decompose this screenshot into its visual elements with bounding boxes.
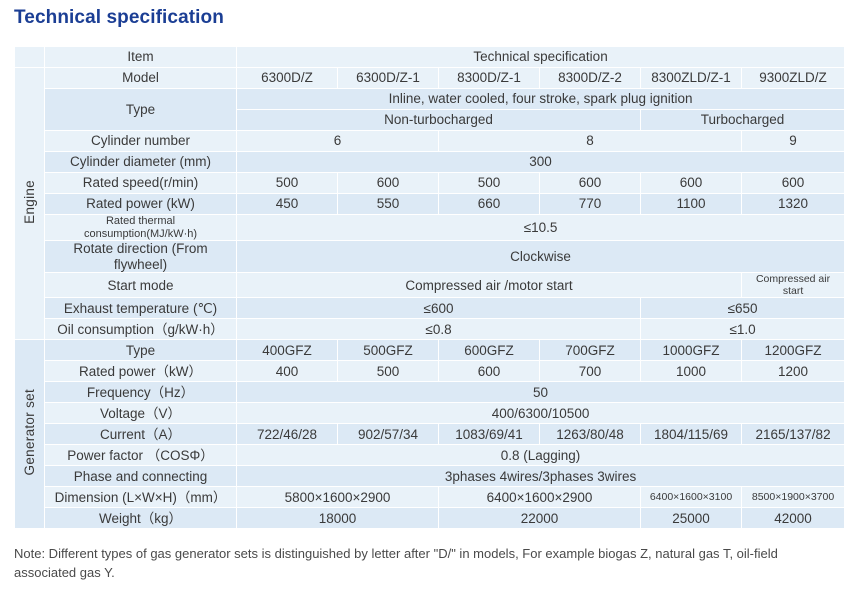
cell-gen-type-3: 600GFZ [439,340,540,361]
technical-specification-page: Technical specification Item Technical s… [0,0,858,602]
cell-start-mode-secondary: Compressed air start [742,273,845,298]
table-row-voltage: Voltage（V） 400/6300/10500 [15,403,845,424]
cell-gen-power-3: 600 [439,361,540,382]
cell-dimension-4: 8500×1900×3700 [742,487,845,508]
row-label-model: Model [45,68,237,89]
cell-dimension-1: 5800×1600×2900 [237,487,439,508]
header-corner-cell [15,47,45,68]
cell-rated-power-engine-1: 450 [237,194,338,215]
table-row-exhaust-temperature: Exhaust temperature (℃) ≤600 ≤650 [15,298,845,319]
cell-rotate-direction: Clockwise [237,241,845,273]
cell-cylinder-number-6: 6 [237,131,439,152]
cell-gen-type-2: 500GFZ [338,340,439,361]
row-label-type-generator: Type [45,340,237,361]
cell-rated-speed-6: 600 [742,173,845,194]
row-label-oil-consumption: Oil consumption（g/kW·h） [45,319,237,340]
table-row-dimension: Dimension (L×W×H)（mm） 5800×1600×2900 640… [15,487,845,508]
cell-engine-type-description: Inline, water cooled, four stroke, spark… [237,89,845,110]
table-row-model: Engine Model 6300D/Z 6300D/Z-1 8300D/Z-1… [15,68,845,89]
row-label-rated-power-generator: Rated power（kW） [45,361,237,382]
row-label-rotate-direction: Rotate direction (From flywheel) [45,241,237,273]
row-label-rated-speed: Rated speed(r/min) [45,173,237,194]
table-row-cylinder-number: Cylinder number 6 8 9 [15,131,845,152]
row-label-weight: Weight（kg） [45,508,237,529]
cell-cylinder-number-8: 8 [439,131,742,152]
cell-rated-speed-3: 500 [439,173,540,194]
cell-rated-speed-4: 600 [540,173,641,194]
cell-current-3: 1083/69/41 [439,424,540,445]
row-label-exhaust-temperature: Exhaust temperature (℃) [45,298,237,319]
table-row-power-factor: Power factor （COSΦ） 0.8 (Lagging) [15,445,845,466]
cell-gen-type-6: 1200GFZ [742,340,845,361]
page-title: Technical specification [14,7,224,29]
cell-rated-power-engine-4: 770 [540,194,641,215]
cell-cylinder-number-9: 9 [742,131,845,152]
cell-model-5: 8300ZLD/Z-1 [641,68,742,89]
cell-rated-thermal-consumption: ≤10.5 [237,215,845,241]
cell-non-turbocharged: Non-turbocharged [237,110,641,131]
cell-model-4: 8300D/Z-2 [540,68,641,89]
cell-turbocharged: Turbocharged [641,110,845,131]
table-header-row: Item Technical specification [15,47,845,68]
cell-gen-power-1: 400 [237,361,338,382]
table-row-rated-thermal-consumption: Rated thermal consumption(MJ/kW·h) ≤10.5 [15,215,845,241]
cell-current-5: 1804/115/69 [641,424,742,445]
table-row-type-generator: Generator set Type 400GFZ 500GFZ 600GFZ … [15,340,845,361]
row-label-type-engine: Type [45,89,237,131]
cell-weight-2: 22000 [439,508,641,529]
header-technical-specification: Technical specification [237,47,845,68]
cell-dimension-2: 6400×1600×2900 [439,487,641,508]
cell-exhaust-temperature-1: ≤600 [237,298,641,319]
cell-cylinder-diameter: 300 [237,152,845,173]
row-label-cylinder-number: Cylinder number [45,131,237,152]
cell-power-factor: 0.8 (Lagging) [237,445,845,466]
cell-rated-power-engine-5: 1100 [641,194,742,215]
row-label-voltage: Voltage（V） [45,403,237,424]
cell-model-6: 9300ZLD/Z [742,68,845,89]
section-label-engine: Engine [15,68,45,340]
cell-rated-speed-2: 600 [338,173,439,194]
table-row-rotate-direction: Rotate direction (From flywheel) Clockwi… [15,241,845,273]
cell-current-1: 722/46/28 [237,424,338,445]
table-row-phase-and-connecting: Phase and connecting 3phases 4wires/3pha… [15,466,845,487]
cell-phase-and-connecting: 3phases 4wires/3phases 3wires [237,466,845,487]
cell-gen-power-2: 500 [338,361,439,382]
footnote: Note: Different types of gas generator s… [14,545,842,583]
cell-start-mode-primary: Compressed air /motor start [237,273,742,298]
table-row-cylinder-diameter: Cylinder diameter (mm) 300 [15,152,845,173]
table-row-type-engine-line1: Type Inline, water cooled, four stroke, … [15,89,845,110]
cell-gen-type-5: 1000GFZ [641,340,742,361]
row-label-rated-power-engine: Rated power (kW) [45,194,237,215]
cell-exhaust-temperature-2: ≤650 [641,298,845,319]
row-label-rated-thermal-consumption: Rated thermal consumption(MJ/kW·h) [45,215,237,241]
cell-rated-power-engine-6: 1320 [742,194,845,215]
cell-rated-speed-5: 600 [641,173,742,194]
cell-gen-power-4: 700 [540,361,641,382]
table-row-rated-power-engine: Rated power (kW) 450 550 660 770 1100 13… [15,194,845,215]
cell-rated-power-engine-3: 660 [439,194,540,215]
row-label-dimension: Dimension (L×W×H)（mm） [45,487,237,508]
cell-gen-type-4: 700GFZ [540,340,641,361]
cell-current-6: 2165/137/82 [742,424,845,445]
row-label-frequency: Frequency（Hz） [45,382,237,403]
row-label-phase-and-connecting: Phase and connecting [45,466,237,487]
row-label-current: Current（A） [45,424,237,445]
table-row-weight: Weight（kg） 18000 22000 25000 42000 [15,508,845,529]
row-label-power-factor: Power factor （COSΦ） [45,445,237,466]
cell-current-4: 1263/80/48 [540,424,641,445]
row-label-cylinder-diameter: Cylinder diameter (mm) [45,152,237,173]
table-row-oil-consumption: Oil consumption（g/kW·h） ≤0.8 ≤1.0 [15,319,845,340]
cell-dimension-3: 6400×1600×3100 [641,487,742,508]
table-row-frequency: Frequency（Hz） 50 [15,382,845,403]
table-row-current: Current（A） 722/46/28 902/57/34 1083/69/4… [15,424,845,445]
cell-frequency: 50 [237,382,845,403]
cell-rated-speed-1: 500 [237,173,338,194]
cell-model-1: 6300D/Z [237,68,338,89]
row-label-start-mode: Start mode [45,273,237,298]
cell-weight-1: 18000 [237,508,439,529]
cell-gen-power-6: 1200 [742,361,845,382]
section-label-generator-set: Generator set [15,340,45,529]
cell-oil-consumption-2: ≤1.0 [641,319,845,340]
cell-rated-power-engine-2: 550 [338,194,439,215]
cell-oil-consumption-1: ≤0.8 [237,319,641,340]
table-row-start-mode: Start mode Compressed air /motor start C… [15,273,845,298]
cell-voltage: 400/6300/10500 [237,403,845,424]
cell-weight-3: 25000 [641,508,742,529]
specification-table: Item Technical specification Engine Mode… [14,46,845,529]
header-item: Item [45,47,237,68]
cell-model-2: 6300D/Z-1 [338,68,439,89]
table-row-rated-power-generator: Rated power（kW） 400 500 600 700 1000 120… [15,361,845,382]
cell-current-2: 902/57/34 [338,424,439,445]
cell-gen-type-1: 400GFZ [237,340,338,361]
cell-model-3: 8300D/Z-1 [439,68,540,89]
cell-weight-4: 42000 [742,508,845,529]
cell-gen-power-5: 1000 [641,361,742,382]
table-row-rated-speed: Rated speed(r/min) 500 600 500 600 600 6… [15,173,845,194]
